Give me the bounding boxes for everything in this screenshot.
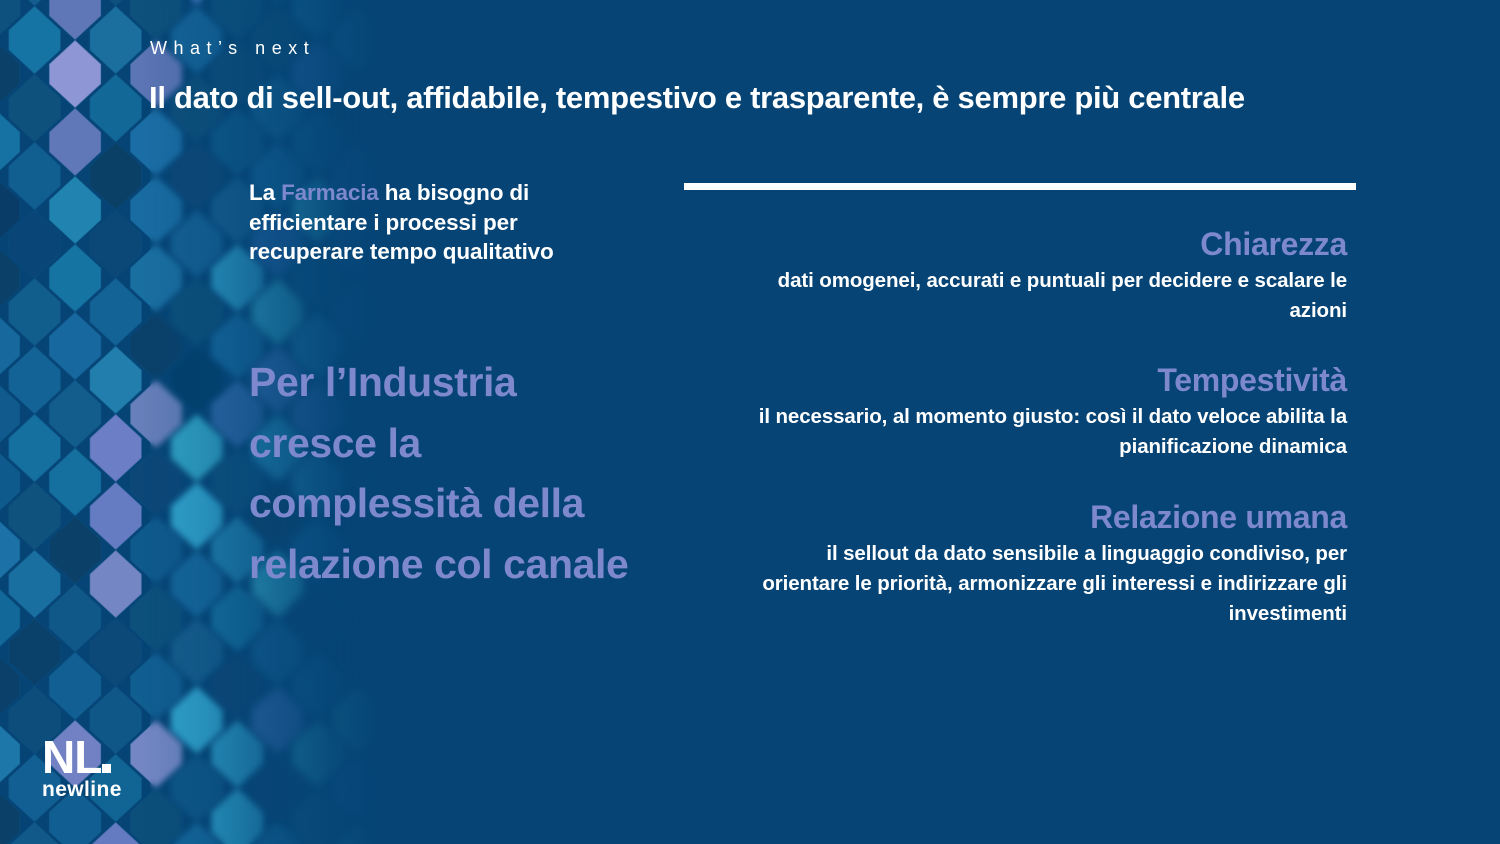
pillar-title: Relazione umana: [747, 499, 1347, 537]
list-item: Relazione umana il sellout da dato sensi…: [747, 499, 1347, 630]
lede-text-before: La: [249, 180, 281, 205]
horizontal-rule-divider: [684, 183, 1356, 190]
pillar-body: il sellout da dato sensibile a linguaggi…: [747, 539, 1347, 630]
list-item: Tempestività il necessario, al momento g…: [747, 362, 1347, 462]
pillars-list: Chiarezza dati omogenei, accurati e punt…: [747, 226, 1347, 630]
logo-mark: NL: [42, 736, 152, 778]
slide-canvas: NL newline What’s next Il dato di sell-o…: [0, 0, 1500, 844]
newline-logo: NL newline: [42, 736, 152, 800]
big-statement: Per l’Industria cresce la complessità de…: [249, 352, 649, 595]
page-title: Il dato di sell-out, affidabile, tempest…: [149, 80, 1245, 116]
eyebrow-label: What’s next: [150, 38, 315, 59]
pillar-title: Chiarezza: [747, 226, 1347, 264]
logo-mark-letters: NL: [42, 731, 101, 783]
pillar-title: Tempestività: [747, 362, 1347, 400]
square-dot-icon: [102, 764, 111, 773]
lede-highlight: Farmacia: [281, 180, 379, 205]
logo-wordmark: newline: [42, 779, 152, 800]
left-column: La Farmacia ha bisogno di efficientare i…: [249, 178, 619, 267]
lede-paragraph: La Farmacia ha bisogno di efficientare i…: [249, 178, 619, 267]
pillar-body: dati omogenei, accurati e puntuali per d…: [747, 266, 1347, 327]
pillar-body: il necessario, al momento giusto: così i…: [747, 402, 1347, 463]
list-item: Chiarezza dati omogenei, accurati e punt…: [747, 226, 1347, 326]
